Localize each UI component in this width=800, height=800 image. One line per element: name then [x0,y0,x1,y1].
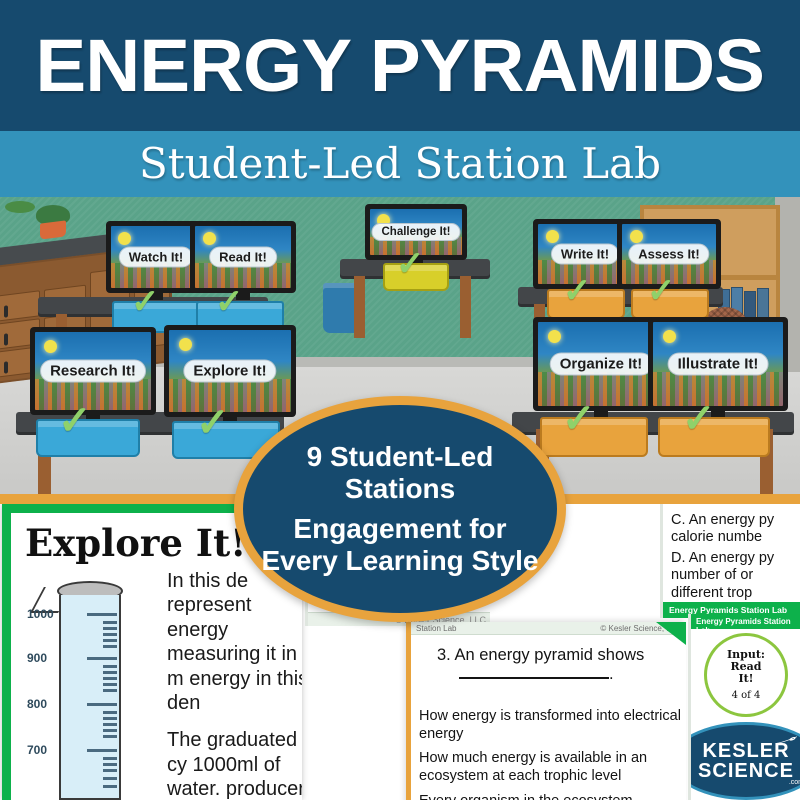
station-monitor-challenge-it: Challenge It! [365,204,467,260]
cylinder-tick-1000: 1000 [27,607,54,621]
option-3[interactable]: Every organism in the ecosystem [419,793,684,800]
station-bin-write-it [547,289,625,319]
page-subtitle: Student-Led Station Lab [139,143,661,185]
mc-option-c[interactable]: C. An energy py calorie numbe [671,512,800,547]
rocket-icon [776,736,798,745]
question-period: . [609,665,614,683]
worksheet-paragraph-2: The graduated cy 1000ml of water. produc… [167,728,302,800]
worksheet-paragraph-1: In this de represent energy measuring it… [167,569,302,715]
input-read-it-badge: Input: Read It! 4 of 4 [707,636,785,714]
callout-line-1: 9 Student-Led Stations [243,441,557,505]
question-options: How energy is transformed into electrica… [419,708,684,800]
page-title: ENERGY PYRAMIDS [36,29,765,103]
header-title-band: ENERGY PYRAMIDS [0,0,800,131]
station-monitor-assess-it: Assess It! [617,219,721,289]
option-2[interactable]: How much energy is available in an ecosy… [419,750,684,785]
station-bin-research-it [36,419,140,457]
mc-letter-d: D. [671,550,686,566]
mc-text-d: An energy py number of or different trop [671,550,774,601]
station-label-organize-it: Organize It! [550,353,653,376]
product-cover: ENERGY PYRAMIDS Student-Led Station Lab [0,0,800,800]
station-monitor-read-it: Read It! [190,221,296,293]
station-label-read-it: Read It! [209,247,277,268]
cylinder-tick-900: 900 [27,651,47,665]
badge-line-1: Input: [727,649,765,661]
graduated-cylinder-icon: 1000 900 800 700 [31,573,151,800]
logo-line-2: SCIENCE [698,761,794,782]
mc-letter-c: C. [671,512,686,528]
option-1[interactable]: How energy is transformed into electrica… [419,708,684,743]
question-number: 3. [437,646,451,664]
question-text: An energy pyramid shows [454,646,644,664]
mc-option-d[interactable]: D. An energy py number of or different t… [671,550,800,602]
cylinder-tick-700: 700 [27,743,47,757]
station-bin-challenge-it [383,263,449,291]
station-label-watch-it: Watch It! [119,247,193,268]
station-bin-assess-it [631,289,709,319]
answer-blank[interactable] [459,677,609,679]
multiple-choice-doc[interactable]: C. An energy py calorie numbe D. An ener… [660,504,800,618]
station-bin-illustrate-it [658,417,770,457]
mc-text-c: An energy py calorie numbe [671,512,774,545]
feature-callout-badge: 9 Student-Led Stations Engagement for Ev… [234,396,566,622]
read-it-card[interactable]: Energy Pyramids Station Lab Input: Read … [688,614,800,800]
question-doc[interactable]: Station Lab © Kesler Science, LLC 3. An … [406,622,686,800]
station-monitor-research-it: Research It! [30,327,156,415]
question-stem: 3. An energy pyramid shows . [437,646,686,684]
badge-line-3: It! [727,673,765,685]
station-monitor-illustrate-it: Illustrate It! [648,317,788,411]
kesler-science-logo: KESLER SCIENCE .com [688,722,800,800]
worksheet-body: In this de represent energy measuring it… [167,569,302,800]
station-label-research-it: Research It! [40,360,146,383]
station-label-illustrate-it: Illustrate It! [668,353,769,376]
station-monitor-explore-it: Explore It! [164,325,296,417]
card-header: Energy Pyramids Station Lab [691,614,800,629]
plant-pot-icon [40,220,66,239]
station-label-assess-it: Assess It! [628,244,709,265]
plant-small-icon [5,201,35,213]
header-subtitle-band: Student-Led Station Lab [0,131,800,197]
doc-header-bar: Station Lab © Kesler Science, LLC [411,622,686,635]
station-label-explore-it: Explore It! [183,360,276,383]
logo-line-3: .com [789,779,800,786]
station-label-write-it: Write It! [551,244,619,265]
station-label-challenge-it: Challenge It! [371,223,460,241]
doc-header-left: Station Lab [416,624,456,632]
callout-line-2: Engagement for Every Learning Style [243,513,557,577]
cylinder-tick-800: 800 [27,697,47,711]
green-corner-icon [656,622,686,648]
badge-count: 4 of 4 [732,690,761,701]
